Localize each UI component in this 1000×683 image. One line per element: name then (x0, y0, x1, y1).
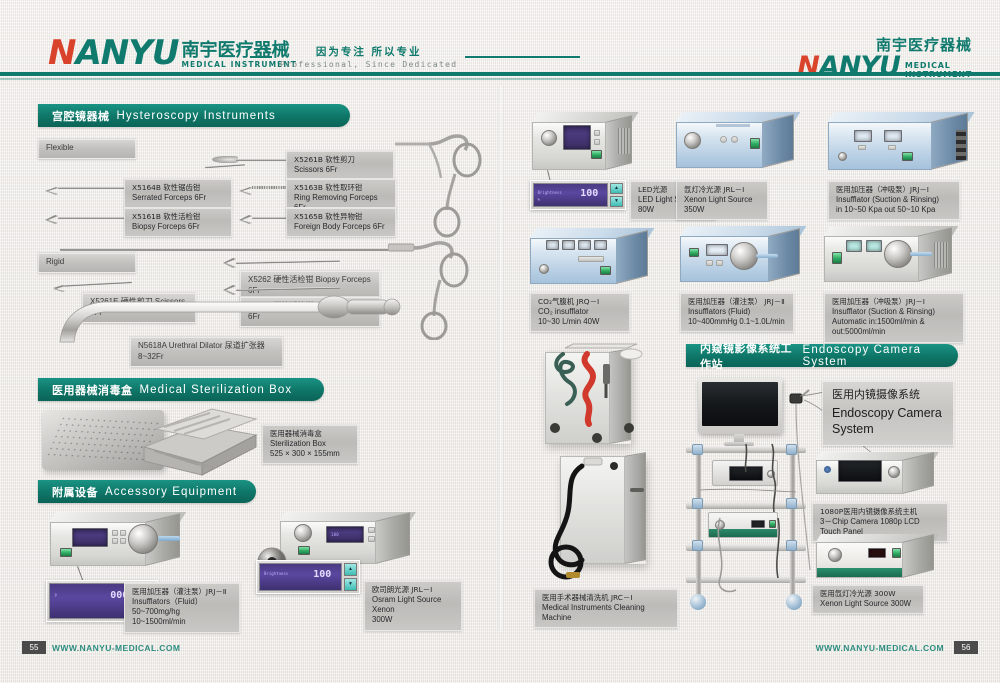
page-footer: 55 WWW.NANYU-MEDICAL.COM WWW.NANYU-MEDIC… (0, 631, 1000, 683)
device2-light-port[interactable] (294, 524, 312, 542)
plate-cleaning-machine: 医用手术器械清洗机 JRC－Ⅰ Medical Instruments Clea… (534, 588, 678, 628)
led-power-button[interactable] (591, 150, 602, 159)
wordmark-nanyu: NANYU (48, 38, 178, 68)
plate-sterilization-box: 医用器械消毒盒 Sterilization Box 525 × 300 × 15… (262, 424, 358, 464)
footer-url-right[interactable]: WWW.NANYU-MEDICAL.COM (816, 643, 944, 653)
insuf1-button-1[interactable] (858, 145, 866, 150)
insuf1-button-2[interactable] (888, 145, 896, 150)
callout-osram-screen: Brightness 100 (259, 563, 342, 591)
insuf2-power-button[interactable] (689, 248, 699, 257)
slogan-dash-right (465, 56, 580, 58)
plate-osram-light-source: 欧司朗光源 JRL－Ⅰ Osram Light Source Xenon 300… (364, 580, 462, 631)
plate-xenon300-cn: 医用氙灯冷光源 300W (820, 589, 916, 599)
logo-right-en: MEDICAL INSTRUMENT (905, 61, 972, 79)
banner-accessory-en: Accessory Equipment (105, 486, 237, 498)
co2-display-4 (594, 240, 607, 250)
xenon-side-panel (762, 114, 794, 168)
photo-sterilization-box-open (140, 405, 260, 477)
plate-camera-host-cn: 1080P医用内镜摄像系统主机 (820, 507, 940, 517)
insuf3-tube (910, 252, 932, 256)
insuf2-display (706, 244, 728, 256)
insuf1-display-1 (854, 130, 872, 142)
callout-osram-lcd: Brightness 100 ▲ ▼ (256, 560, 360, 594)
page-gutter (498, 86, 504, 631)
plate-co2-cn: CO₂气腹机 JRQ－Ⅰ (538, 297, 622, 307)
plate-xenon-light-source-350: 氙灯冷光源 JRL－Ⅰ Xenon Light Source 350W (676, 180, 768, 220)
callout-osram-value: 100 (313, 569, 331, 580)
insuf2-button-1[interactable] (706, 260, 713, 266)
host-camera-port[interactable] (888, 466, 900, 478)
photo-cleaning-machine-upper-hoses (545, 342, 645, 452)
insuf2-tube (756, 254, 778, 258)
plate-urethral-dilator: N5618A Urethral Dilator 尿道扩张器 8~32Fr (130, 336, 283, 367)
plate-flexible-foreign-body-cn: X5165B 软性异物钳 (294, 212, 388, 222)
plate-insufflator-fluid-cn: 医用加压器（灌注泵）JRJ－Ⅱ (132, 587, 232, 597)
device-tube-connector (158, 536, 180, 541)
plate-flexible-scissors-en: Scissors 6Fr (294, 165, 386, 175)
plate-xenon350-spec: 350W (684, 205, 760, 215)
plate-insufflator-fluid-jrj2: 医用加压器（灌注泵）JRJ－Ⅱ Insufflators（Fluid） 50~7… (124, 582, 240, 633)
banner-sterilization-cn: 医用器械消毒盒 (52, 382, 133, 398)
device-pump-head[interactable] (128, 524, 158, 554)
insuf3-display-1 (846, 240, 862, 252)
insuf2-pump-head[interactable] (730, 242, 758, 270)
slogan-block: 因为专注 所以专业 Professional, Since Dedicated (250, 44, 580, 69)
plate-sterilization-box-dim: 525 × 300 × 155mm (270, 449, 350, 459)
insuf3-power-button[interactable] (832, 252, 842, 264)
insuf3-display-2 (866, 240, 882, 252)
photo-insufflator-suction-auto (824, 226, 952, 282)
co2-display-1 (546, 240, 559, 250)
plate-insuf3-cn: 医用加压器（冲吸泵）JRJ－Ⅰ (832, 297, 956, 307)
callout-led-screen: Brightness 100 % (533, 183, 608, 207)
led-button-1[interactable] (594, 130, 600, 136)
device-button-4[interactable] (120, 538, 126, 544)
xenon-light-port[interactable] (684, 132, 701, 149)
plate-insuf2-en: Insufflators (Fluid) (688, 307, 786, 317)
led-lcd-screen (563, 125, 591, 150)
led-vent (618, 128, 630, 154)
tag-rigid: Rigid (38, 252, 136, 273)
plate-osram-spec: 300W (372, 615, 454, 625)
xenon300-green-strip (816, 568, 903, 578)
plate-insufflator-fluid-jrj2-right: 医用加压器（灌注泵） JRJ－Ⅱ Insufflators (Fluid) 10… (680, 292, 794, 332)
plate-insuf1-spec: in 10~50 Kpa out 50~10 Kpa (836, 205, 952, 215)
page-number-right: 56 (954, 641, 978, 654)
insuf1-display-2 (884, 130, 902, 142)
plate-insuf1-en: Insufflator (Suction & Rinsing) (836, 195, 952, 205)
plate-co2-en: CO₂ insufflator (538, 307, 622, 317)
plate-sterilization-box-en: Sterilization Box (270, 439, 350, 449)
callout-osram-buttons[interactable]: ▲ ▼ (344, 563, 357, 591)
photo-xenon-300 (816, 534, 934, 578)
plate-co2-insufflator: CO₂气腹机 JRQ－Ⅰ CO₂ insufflator 10~30 L/min… (530, 292, 630, 332)
plate-xenon350-en: Xenon Light Source (684, 195, 760, 205)
co2-display-2 (562, 240, 575, 250)
plate-osram-cn: 欧司朗光源 JRL－Ⅰ (372, 585, 454, 595)
plate-xenon350-cn: 氙灯冷光源 JRL－Ⅰ (684, 185, 760, 195)
callout-lcd-label: P (54, 593, 56, 598)
plate-flexible-biopsy: X5161B 软性活检钳 Biopsy Forceps 6Fr (124, 207, 232, 237)
xenon-button-2[interactable] (731, 136, 738, 143)
plate-flexible-serrated-cn: X5164B 软性锯齿钳 (132, 183, 224, 193)
device-button-1[interactable] (112, 530, 118, 536)
host-indicator (824, 466, 831, 473)
co2-display-3 (578, 240, 591, 250)
device-lcd-screen (72, 528, 108, 547)
plate-insuf3-en: Insufflator (Suction & Rinsing) (832, 307, 956, 317)
co2-gas-port[interactable] (539, 264, 549, 274)
callout-led-buttons[interactable]: ▲ ▼ (610, 183, 623, 207)
instrument-rigid-tip-right (388, 240, 493, 340)
insuf3-vent (934, 242, 948, 268)
insuf2-button-2[interactable] (716, 260, 723, 266)
led-light-port[interactable] (541, 130, 557, 146)
co2-button-row[interactable] (578, 256, 604, 262)
plate-insuf3-spec: Automatic in:1500ml/min & out:5000ml/min (832, 317, 956, 338)
page-number-left: 55 (22, 641, 46, 654)
photo-cleaning-machine-lower-hose (530, 450, 660, 580)
photo-xenon-light-source-350 (676, 112, 794, 168)
page-header: NANYU 南宇医疗器械 MEDICAL INSTRUMENT 因为专注 所以专… (0, 0, 1000, 86)
callout-led-button-up[interactable]: ▲ (610, 183, 623, 194)
plate-camera-system-title: 医用内镜摄像系统 Endoscopy Camera System (822, 380, 954, 446)
host-touch-panel[interactable] (838, 460, 882, 482)
device-button-3[interactable] (112, 538, 118, 544)
callout-osram-label: Brightness (264, 571, 288, 576)
plate-cleaning-en: Medical Instruments Cleaning Machine (542, 603, 670, 624)
callout-led-label: Brightness (538, 190, 562, 195)
plate-co2-spec: 10~30 L/min 40W (538, 317, 622, 327)
photo-led-light-source (532, 112, 632, 170)
device2-power-button[interactable] (298, 546, 310, 555)
co2-power-button[interactable] (600, 266, 611, 275)
co2-side-panel (616, 230, 648, 284)
xenon300-power-button[interactable] (892, 548, 901, 558)
banner-camera-cn: 内窥镜影像系统工作站 (700, 340, 796, 372)
banner-sterilization: 医用器械消毒盒 Medical Sterilization Box (38, 378, 324, 401)
banner-hysteroscopy-cn: 宫腔镜器械 (52, 108, 110, 124)
banner-accessory: 附属设备 Accessory Equipment (38, 480, 256, 503)
plate-sterilization-box-cn: 医用器械消毒盒 (270, 429, 350, 439)
plate-flexible-scissors: X5261B 软性剪刀 Scissors 6Fr (286, 150, 394, 180)
callout-osram-button-down[interactable]: ▼ (344, 578, 357, 591)
plate-insufflator-fluid-spec: 50~700mg/hg 10~1500ml/min (132, 607, 232, 628)
photo-insufflator-fluid-jrj2-right (680, 226, 800, 282)
photo-insufflator-fluid-jrj2 (50, 512, 180, 566)
xenon300-side-panel (902, 534, 934, 578)
plate-urethral-dilator-text: N5618A Urethral Dilator 尿道扩张器 8~32Fr (138, 341, 265, 361)
device2-lcd-screen: 100 (326, 526, 364, 543)
plate-flexible-foreign-body-en: Foreign Body Forceps 6Fr (294, 222, 388, 232)
banner-hysteroscopy-en: Hysteroscopy Instruments (117, 110, 276, 122)
callout-led-value: 100 (580, 188, 598, 199)
photo-osram-light-source: 100 (280, 512, 410, 564)
xenon-button-1[interactable] (720, 136, 727, 143)
plate-insufflator-fluid-en: Insufflators（Fluid） (132, 597, 232, 607)
photo-co2-insufflator (530, 228, 648, 284)
tag-rigid-label: Rigid (46, 257, 64, 266)
plate-flexible-serrated: X5164B 软性锯齿钳 Serrated Forceps 6Fr (124, 178, 232, 208)
banner-hysteroscopy: 宫腔镜器械 Hysteroscopy Instruments (38, 104, 350, 127)
insuf3-pump-head[interactable] (884, 240, 912, 268)
plate-camera-title-cn: 医用内镜摄像系统 (832, 388, 944, 403)
device-power-button[interactable] (60, 548, 72, 557)
plate-flexible-biopsy-cn: X5161B 软性活检钳 (132, 212, 224, 222)
insuf1-front-panel (828, 122, 932, 170)
callout-led-unit: % (538, 197, 540, 202)
photo-camera-host-large (816, 452, 934, 494)
plate-insuf1-cn: 医用加压器（冲吸泵）JRJ－Ⅰ (836, 185, 952, 195)
xenon300-light-port[interactable] (828, 548, 842, 562)
plate-flexible-ring-removing-cn: X5163B 软性取环钳 (294, 183, 388, 193)
banner-camera-system: 内窥镜影像系统工作站 Endoscopy Camera System (686, 344, 958, 367)
plate-cleaning-cn: 医用手术器械清洗机 JRC－Ⅰ (542, 593, 670, 603)
led-button-2[interactable] (594, 139, 600, 145)
xenon-label-strip (716, 124, 750, 127)
plate-insuf2-spec: 10~400mmHg 0.1~1.0L/min (688, 317, 786, 327)
host-side-panel (902, 452, 934, 494)
instrument-long-rigid-shaft (60, 248, 390, 251)
plate-flexible-scissors-cn: X5261B 软性剪刀 (294, 155, 386, 165)
device2-side-panel (375, 513, 410, 564)
header-rule (0, 72, 1000, 76)
plate-insuf2-cn: 医用加压器（灌注泵） JRJ－Ⅱ (688, 297, 786, 307)
device2-button-1[interactable] (368, 527, 375, 533)
callout-led-button-down[interactable]: ▼ (610, 196, 623, 207)
tag-flexible-label: Flexible (46, 143, 74, 152)
plate-camera-title-en: Endoscopy Camera System (832, 405, 944, 438)
insuf1-rear-ports (956, 130, 966, 160)
plate-xenon-300: 医用氙灯冷光源 300W Xenon Light Source 300W (812, 584, 924, 614)
plate-flexible-biopsy-en: Biopsy Forceps 6Fr (132, 222, 224, 232)
xenon300-display (868, 548, 886, 558)
callout-osram-button-up[interactable]: ▲ (344, 563, 357, 576)
plate-flexible-foreign-body: X5165B 软性异物钳 Foreign Body Forceps 6Fr (286, 207, 396, 237)
slogan-text: 因为专注 所以专业 Professional, Since Dedicated (280, 44, 457, 69)
insuf1-power-button[interactable] (902, 152, 913, 161)
instrument-scope-ring-handle-upper (395, 130, 495, 240)
device-button-2[interactable] (120, 530, 126, 536)
banner-camera-en: Endoscopy Camera System (803, 344, 942, 368)
footer-url-left[interactable]: WWW.NANYU-MEDICAL.COM (52, 643, 180, 653)
tag-flexible: Flexible (38, 138, 136, 159)
device2-button-2[interactable] (368, 536, 375, 542)
xenon-power-button[interactable] (750, 138, 760, 149)
slogan-en: Professional, Since Dedicated (280, 60, 457, 69)
header-rule-thin (0, 78, 1000, 80)
insuf1-port[interactable] (838, 152, 847, 161)
wordmark-letter-n: N (48, 33, 75, 73)
plate-flexible-serrated-en: Serrated Forceps 6Fr (132, 193, 224, 203)
slogan-cn: 因为专注 所以专业 (280, 44, 457, 59)
plate-xenon300-en: Xenon Light Source 300W (820, 599, 916, 609)
wordmark-letters-anyu: ANYU (75, 33, 178, 73)
banner-accessory-cn: 附属设备 (52, 484, 98, 500)
photo-insufflator-suction-jrj1 (828, 112, 968, 170)
plate-osram-en: Osram Light Source Xenon (372, 595, 454, 616)
plate-insufflator-suction-auto: 医用加压器（冲吸泵）JRJ－Ⅰ Insufflator (Suction & R… (824, 292, 964, 343)
device2-lcd-text: 100 (331, 532, 339, 537)
banner-sterilization-en: Medical Sterilization Box (140, 384, 293, 396)
plate-insufflator-suction-jrj1: 医用加压器（冲吸泵）JRJ－Ⅰ Insufflator (Suction & R… (828, 180, 960, 220)
slogan-dash-left (250, 56, 272, 58)
logo-right-en-line1: MEDICAL (905, 61, 951, 70)
callout-led-lcd: Brightness 100 % ▲ ▼ (530, 180, 626, 210)
